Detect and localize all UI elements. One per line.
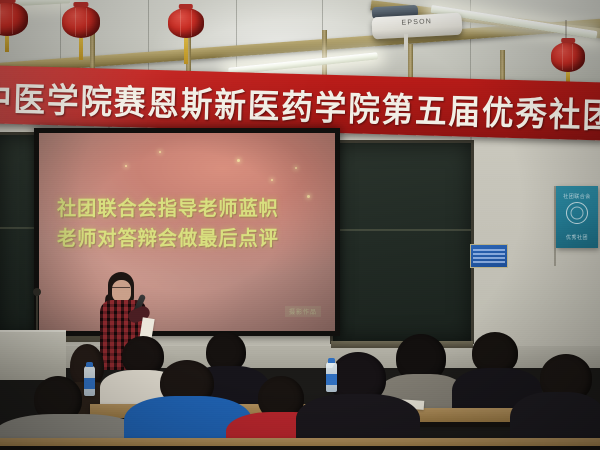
notice-line bbox=[473, 261, 505, 263]
lantern-body bbox=[168, 8, 204, 38]
lantern-body bbox=[551, 42, 585, 72]
notice-line bbox=[473, 249, 505, 251]
lantern-body bbox=[62, 6, 100, 38]
bottle-label bbox=[326, 374, 337, 385]
club-flag-bottom-text: 优秀社团 bbox=[556, 234, 598, 241]
paper-lantern bbox=[62, 6, 100, 38]
lantern-tassel bbox=[79, 38, 83, 60]
projection-screen-frame: 社团联合会指导老师蓝帜 老师对答辩会做最后点评 摄影作品 bbox=[34, 128, 340, 336]
bottle-cap bbox=[86, 362, 93, 367]
lantern-cap bbox=[0, 0, 15, 3]
water-bottle bbox=[326, 362, 337, 392]
blackboard-divider bbox=[333, 229, 471, 231]
projector-brand-label: EPSON bbox=[372, 17, 462, 29]
paper-lantern bbox=[168, 8, 204, 38]
lantern-cap bbox=[561, 38, 575, 43]
lantern-body bbox=[0, 2, 28, 36]
lantern-cap bbox=[179, 4, 193, 9]
wall-notice-board bbox=[470, 244, 508, 268]
club-flag: 社团联合会 优秀社团 bbox=[556, 186, 598, 248]
projection-screen: 社团联合会指导老师蓝帜 老师对答辩会做最后点评 摄影作品 bbox=[39, 133, 335, 331]
projector-ceiling-mount bbox=[404, 34, 408, 50]
paper-lantern bbox=[0, 2, 28, 36]
lecture-hall-photo: EPSON 中医学院赛恩斯新医药学院第五届优秀社团答辩 bbox=[0, 0, 600, 450]
screen-vignette bbox=[39, 133, 335, 331]
paper-lantern bbox=[551, 42, 585, 72]
notice-line bbox=[473, 253, 505, 255]
bottle-label bbox=[84, 378, 95, 389]
audience bbox=[0, 330, 600, 450]
lantern-tassel bbox=[184, 38, 188, 64]
bottle-cap bbox=[328, 358, 335, 363]
water-bottle bbox=[84, 366, 95, 396]
club-emblem-icon bbox=[566, 202, 588, 224]
notice-line bbox=[473, 257, 505, 259]
projector: EPSON bbox=[371, 13, 462, 40]
lantern-tassel bbox=[5, 36, 9, 52]
lantern-cap bbox=[73, 2, 88, 7]
club-flag-top-text: 社团联合会 bbox=[556, 193, 598, 200]
blackboard-right bbox=[330, 140, 474, 344]
desk-edge-front bbox=[0, 446, 600, 450]
presenter-glasses bbox=[112, 287, 130, 292]
microphone-head bbox=[33, 288, 41, 296]
